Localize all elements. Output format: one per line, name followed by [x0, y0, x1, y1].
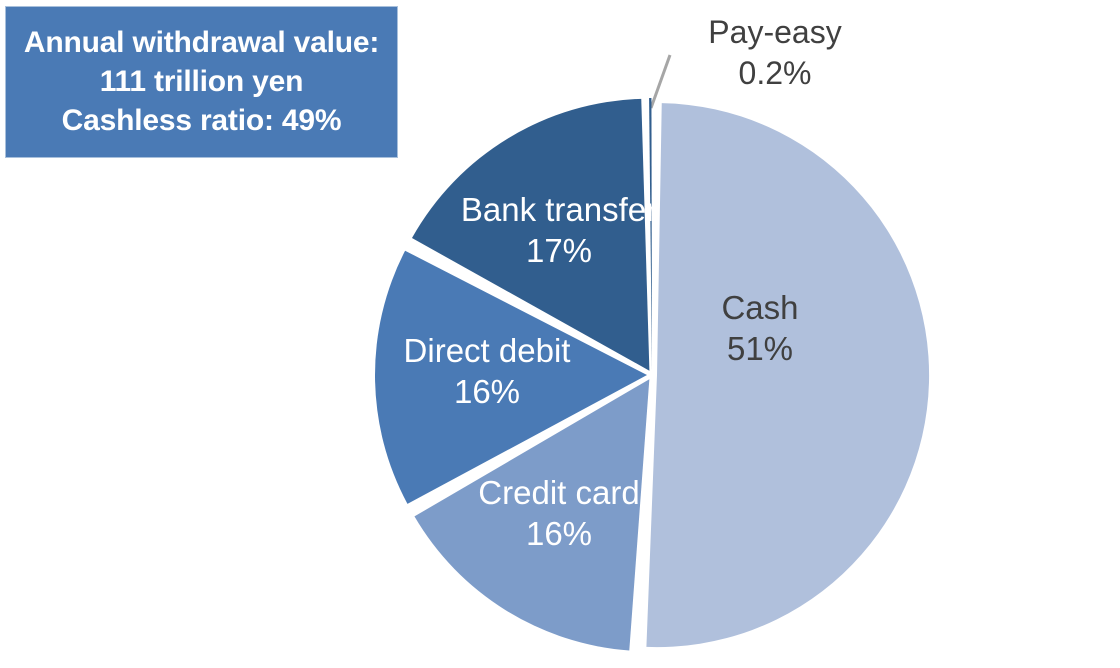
pie-slice-cash[interactable] [646, 103, 929, 647]
pie-chart [0, 0, 1120, 668]
pie-slice-group [375, 98, 929, 651]
pie-leader-line-group [651, 55, 670, 108]
chart-canvas: Annual withdrawal value: 111 trillion ye… [0, 0, 1120, 668]
pay-easy-leader-line [651, 55, 670, 108]
pie-slice-pay-easy[interactable] [649, 98, 652, 370]
